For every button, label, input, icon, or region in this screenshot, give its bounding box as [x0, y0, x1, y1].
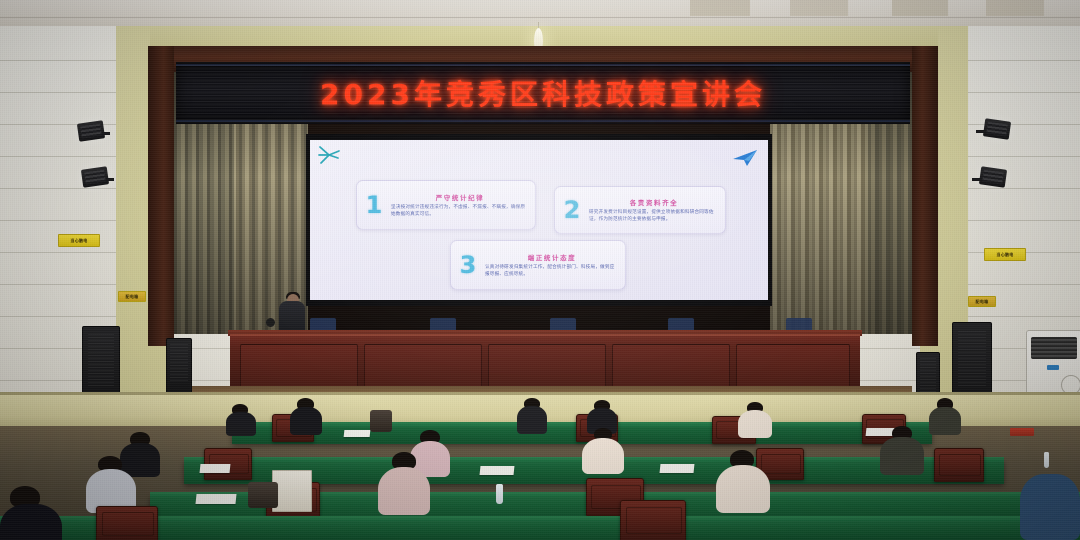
table-edge: [0, 516, 1080, 521]
ceiling-seam: [0, 17, 1080, 18]
led-banner: 2023年竞秀区科技政策宣讲会: [176, 62, 910, 124]
wall-sign-right-upper: 当心触电: [984, 248, 1026, 261]
chair: [934, 448, 984, 482]
microphone-icon: [266, 318, 275, 327]
floodlight-icon: [979, 166, 1007, 187]
slide-card-1: 1 严守统计纪律 坚决按对统计违规违法行为，不虚报、不漏报、不瞒报，确保原始数据…: [356, 180, 536, 230]
red-booklet: [1010, 428, 1034, 436]
slide-card-3-title: 端正统计态度: [485, 252, 619, 262]
wall-sign-left-lower: 配电箱: [118, 291, 146, 302]
wall-sign-left-upper: 当心触电: [58, 234, 100, 247]
wainscot-rail: [0, 392, 1080, 395]
slide-card-3: 3 端正统计态度 认真对待研发归集统计工作，配合统计部门、科技局，做到应报尽报、…: [450, 240, 626, 290]
sparkle-icon: [316, 144, 342, 166]
slide-card-3-number: 3: [451, 251, 485, 279]
slide-card-3-body: 认真对待研发归集统计工作，配合统计部门、科技局，做到应报尽报、应统尽统。: [485, 264, 619, 278]
water-bottle: [1044, 452, 1049, 468]
paper: [200, 464, 231, 473]
paper-plane-icon: [732, 148, 758, 168]
floodlight-icon: [77, 120, 105, 141]
slide-card-2-number: 2: [555, 196, 589, 224]
paper: [866, 428, 895, 436]
ac-brand-logo: [1047, 365, 1059, 370]
slide-card-1-number: 1: [357, 191, 391, 219]
slide-card-1-title: 严守统计纪律: [391, 192, 529, 202]
proscenium-right: [912, 46, 938, 346]
ac-grille: [1031, 337, 1077, 359]
proscenium-left: [148, 46, 174, 346]
slide-card-1-body: 坚决按对统计违规违法行为，不虚报、不漏报、不瞒报，确保原始数据的真实可信。: [391, 204, 529, 218]
paper: [195, 494, 236, 504]
audience-table-row4: [0, 520, 1080, 540]
floodlight-icon: [983, 118, 1011, 139]
chair: [620, 500, 686, 540]
stage-podium: [230, 334, 860, 394]
banner-title: 2023年竞秀区科技政策宣讲会: [176, 73, 910, 113]
paper: [480, 466, 515, 475]
slide-card-2-body: 研究开发费计科目规范设置，提供立项依据和科研合同等佐证，作为防范统计的主要依据与…: [589, 209, 719, 223]
slide-card-2-title: 各责资料齐全: [589, 197, 719, 207]
paper: [660, 464, 695, 473]
ceiling-panel: [986, 0, 1044, 16]
paper: [344, 430, 371, 437]
water-bottle: [496, 484, 503, 504]
floodlight-icon: [81, 166, 109, 187]
wall-sign-right-lower: 配电箱: [968, 296, 996, 307]
ceiling-panel: [892, 0, 948, 16]
handbag: [370, 410, 392, 432]
slide-card-2: 2 各责资料齐全 研究开发费计科目规范设置，提供立项依据和科研合同等佐证，作为防…: [554, 186, 726, 234]
handbag: [248, 482, 278, 508]
shopping-bag: [272, 470, 312, 512]
lecture-hall-photo: 2023年竞秀区科技政策宣讲会 1 严守统计纪律 坚决按对统计违规违法行为，不虚…: [0, 0, 1080, 540]
projection-slide: 1 严守统计纪律 坚决按对统计违规违法行为，不虚报、不漏报、不瞒报，确保原始数据…: [310, 140, 768, 300]
ceiling-panel: [790, 0, 848, 16]
ceiling-panel: [690, 0, 750, 16]
chair: [96, 506, 158, 540]
